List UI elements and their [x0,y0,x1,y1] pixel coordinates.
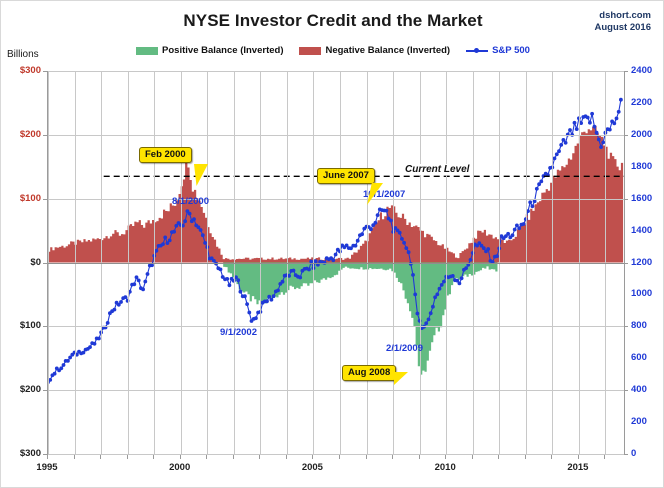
sp500-marker [528,200,532,204]
sp500-marker [374,221,378,225]
legend-swatch-red [299,47,321,55]
sp500-marker [146,272,150,276]
brand-block: dshort.com August 2016 [595,10,652,34]
page-title: NYSE Investor Credit and the Market [1,11,664,31]
sp500-marker [482,246,486,250]
y-axis-tick-label: $0 [1,257,41,268]
horizontal-gridline [48,199,624,200]
sp500-marker [533,199,537,203]
sp500-marker [559,143,563,147]
date-label-9-1-2002: 9/1/2002 [220,327,257,338]
sp500-marker [106,321,110,325]
sp500-marker [568,128,572,132]
sp500-marker [119,300,123,304]
sp500-marker [513,228,517,232]
sp500-marker [265,299,269,303]
y2-axis-tick-mark [624,199,628,200]
sp500-marker [270,298,274,302]
sp500-marker [228,283,232,287]
x-axis-tick-label: 2010 [435,462,456,473]
y-axis-tick-mark [43,326,47,327]
sp500-marker [236,278,240,282]
horizontal-gridline [48,71,624,72]
y2-axis-tick-label: 2400 [631,65,664,76]
x-axis-tick-mark [604,455,605,459]
sp500-marker [199,228,203,232]
x-axis-tick-mark [472,455,473,459]
x-axis-tick-mark [259,455,260,459]
sp500-marker [219,268,223,272]
y-axis-tick-label: $100 [1,193,41,204]
horizontal-gridline [48,454,624,455]
sp500-marker [334,253,338,257]
sp500-marker [141,288,145,292]
sp500-marker [225,277,229,281]
y2-axis-tick-label: 800 [631,320,664,331]
sp500-marker [411,273,415,277]
legend-label-negative-balance: Negative Balance (Inverted) [325,45,450,56]
sp500-marker [292,269,296,273]
y2-axis-tick-label: 1400 [631,225,664,236]
sp500-marker [135,275,139,279]
y2-axis-tick-label: 1600 [631,193,664,204]
sp500-marker [93,342,97,346]
sp500-marker [531,204,535,208]
y2-axis-tick-label: 1000 [631,288,664,299]
x-axis-tick-label: 2000 [169,462,190,473]
sp500-marker [464,266,468,270]
x-axis-tick-mark [366,455,367,459]
x-axis-tick-mark [233,455,234,459]
x-axis-tick-mark [180,455,181,459]
sp500-marker [272,294,276,298]
sp500-marker [451,274,455,278]
sp500-marker [243,294,247,298]
sp500-marker [356,239,360,243]
sp500-marker [590,112,594,116]
x-axis-tick-mark [286,455,287,459]
sp500-marker [254,316,258,320]
x-axis-tick-mark [153,455,154,459]
sp500-marker [619,98,623,102]
legend-line-marker-icon [466,47,488,55]
y2-axis-tick-mark [624,71,628,72]
y-axis-tick-label: $100 [1,320,41,331]
sp500-marker [66,359,70,363]
sp500-marker [113,308,117,312]
x-axis-tick-mark [74,455,75,459]
sp500-marker [172,230,176,234]
sp500-marker [59,366,63,370]
horizontal-gridline [48,390,624,391]
sp500-marker [435,293,439,297]
x-axis-tick-mark [392,455,393,459]
sp500-marker [460,276,464,280]
y-axis-tick-mark [43,390,47,391]
sp500-marker [586,116,590,120]
sp500-marker [53,372,57,376]
sp500-marker [511,233,515,237]
sp500-marker [360,232,364,236]
sp500-marker [597,138,601,142]
sp500-marker [369,227,373,231]
y-axis-tick-mark [43,263,47,264]
sp500-marker [402,241,406,245]
y2-axis-tick-mark [624,326,628,327]
sp500-marker [413,293,417,297]
sp500-marker [407,250,411,254]
sp500-marker [612,122,616,126]
y2-axis-tick-mark [624,454,628,455]
x-axis-tick-label: 2005 [302,462,323,473]
sp500-marker [376,213,380,217]
horizontal-gridline [48,135,624,136]
sp500-marker [573,121,577,125]
legend-item-sp500: S&P 500 [466,45,530,56]
sp500-marker [617,110,621,114]
sp500-marker [247,311,251,315]
x-axis-tick-mark [339,455,340,459]
x-axis-tick-mark [578,455,579,459]
zero-line [48,263,624,264]
legend-label-positive-balance: Positive Balance (Inverted) [162,45,283,56]
y2-axis-tick-label: 200 [631,416,664,427]
y2-axis-tick-mark [624,263,628,264]
x-axis-tick-mark [100,455,101,459]
brand-name: dshort.com [595,10,652,22]
legend-item-negative-balance: Negative Balance (Inverted) [299,45,450,56]
sp500-marker [427,318,431,322]
sp500-marker [132,282,136,286]
y2-axis-tick-mark [624,390,628,391]
y2-axis-tick-label: 1200 [631,257,664,268]
y-axis-tick-mark [43,71,47,72]
y2-axis-tick-label: 1800 [631,161,664,172]
sp500-marker [599,145,603,149]
sp500-marker [163,236,167,240]
sp500-marker [535,187,539,191]
sp500-marker [458,282,462,286]
y2-axis-tick-label: 2200 [631,97,664,108]
sp500-marker [564,141,568,145]
sp500-marker [88,345,92,349]
sp500-marker [161,242,165,246]
x-axis-tick-mark [312,455,313,459]
y-axis-tick-label: $200 [1,129,41,140]
negative-balance-area [48,126,623,263]
sp500-marker [615,117,619,121]
sp500-marker [239,290,243,294]
sp500-marker [201,233,205,237]
date-label-8-1-2000: 8/1/2000 [172,196,209,207]
date-label-2-1-2009: 2/1/2009 [386,343,423,354]
sp500-marker [62,363,66,367]
sp500-marker [438,287,442,291]
sp500-marker [593,125,597,129]
sp500-marker [429,311,433,315]
sp500-marker [608,128,612,132]
y-axis-tick-mark [43,135,47,136]
current-level-label: Current Level [401,164,473,175]
y-axis-tick-mark [43,199,47,200]
sp500-marker [486,247,490,251]
sp500-marker [517,226,521,230]
chart-legend: Positive Balance (Inverted) Negative Bal… [1,45,664,56]
sp500-marker [385,209,389,213]
sp500-marker [440,283,444,287]
sp500-marker [539,180,543,184]
y2-axis-tick-label: 0 [631,448,664,459]
sp500-marker [404,246,408,250]
x-axis-tick-mark [206,455,207,459]
sp500-marker [557,149,561,153]
y2-axis-tick-mark [624,135,628,136]
x-axis-tick-label: 1995 [36,462,57,473]
horizontal-gridline [48,326,624,327]
y-axis-tick-label: $200 [1,384,41,395]
x-axis-tick-mark [47,455,48,459]
sp500-marker [431,305,435,309]
june-2007-callout: June 2007 [317,168,375,184]
y-axis-tick-label: $300 [1,65,41,76]
sp500-marker [281,280,285,284]
x-axis-tick-mark [498,455,499,459]
plot-area [47,71,625,455]
sp500-marker [555,152,559,156]
sp500-marker [192,217,196,221]
x-axis-tick-mark [551,455,552,459]
sp500-marker [276,289,280,293]
sp500-marker [398,231,402,235]
sp500-marker [143,280,147,284]
legend-item-positive-balance: Positive Balance (Inverted) [136,45,283,56]
sp500-marker [354,244,358,248]
y2-axis-tick-label: 400 [631,384,664,395]
sp500-marker [168,239,172,243]
y2-axis-tick-label: 2000 [631,129,664,140]
x-axis-tick-mark [127,455,128,459]
legend-swatch-green [136,47,158,55]
legend-label-sp500: S&P 500 [492,45,530,56]
sp500-marker [588,121,592,125]
aug-2008-callout: Aug 2008 [342,365,396,381]
sp500-marker [307,268,311,272]
x-axis-tick-label: 2015 [567,462,588,473]
sp500-marker [506,232,510,236]
sp500-marker [188,212,192,216]
sp500-marker [424,321,428,325]
feb-2000-callout: Feb 2000 [139,147,192,163]
x-axis-tick-mark [525,455,526,459]
sp500-marker [183,219,187,223]
sp500-marker [400,237,404,241]
x-axis-tick-mark [445,455,446,459]
x-axis-tick-mark [419,455,420,459]
sp500-marker [298,276,302,280]
y-axis-tick-label: $300 [1,448,41,459]
sp500-marker [245,302,249,306]
brand-date: August 2016 [595,22,652,34]
y2-axis-tick-label: 600 [631,352,664,363]
sp500-marker [137,279,141,283]
chart-container: NYSE Investor Credit and the Market dsho… [0,0,664,488]
